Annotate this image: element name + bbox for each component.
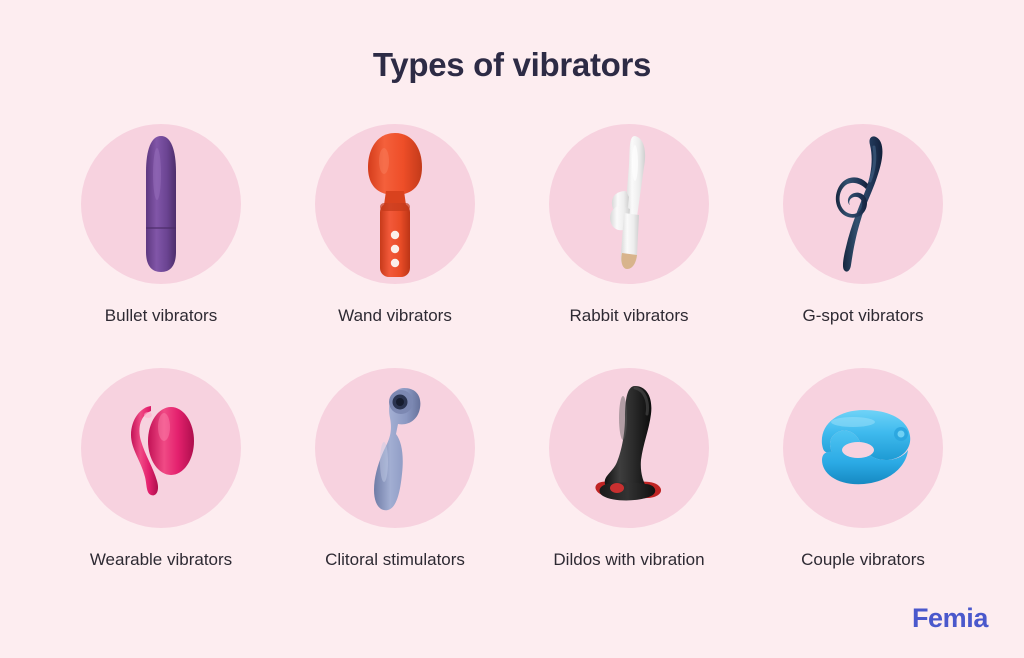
grid-cell-dildos-with-vibration[interactable]: Dildos with vibration [512, 368, 746, 570]
grid-cell-wearable-vibrators[interactable]: Wearable vibrators [44, 368, 278, 570]
icon-circle [81, 368, 241, 528]
wand-vibrator-icon [360, 129, 430, 279]
cell-label: G-spot vibrators [803, 306, 924, 326]
icon-circle [783, 124, 943, 284]
grid-row: Bullet vibrators [0, 124, 1024, 326]
icon-circle [81, 124, 241, 284]
icon-circle [315, 124, 475, 284]
bullet-vibrator-icon [133, 134, 189, 274]
grid-cell-couple-vibrators[interactable]: Couple vibrators [746, 368, 980, 570]
wearable-vibrator-icon [121, 393, 201, 503]
cell-label: Bullet vibrators [105, 306, 217, 326]
rabbit-vibrator-icon [599, 133, 659, 275]
clitoral-stimulator-icon [358, 382, 432, 514]
cell-label: Rabbit vibrators [569, 306, 688, 326]
g-spot-vibrator-icon [826, 133, 900, 275]
cell-label: Wearable vibrators [90, 550, 232, 570]
icon-circle [549, 368, 709, 528]
cell-label: Wand vibrators [338, 306, 452, 326]
cell-label: Couple vibrators [801, 550, 925, 570]
grid-cell-bullet-vibrators[interactable]: Bullet vibrators [44, 124, 278, 326]
grid-cell-clitoral-stimulators[interactable]: Clitoral stimulators [278, 368, 512, 570]
grid-cell-wand-vibrators[interactable]: Wand vibrators [278, 124, 512, 326]
brand-logo[interactable]: Femia [912, 603, 988, 634]
vibrator-types-grid: Bullet vibrators [0, 124, 1024, 571]
icon-circle [783, 368, 943, 528]
icon-circle [549, 124, 709, 284]
grid-cell-g-spot-vibrators[interactable]: G-spot vibrators [746, 124, 980, 326]
dildo-with-vibration-icon [583, 378, 675, 518]
icon-circle [315, 368, 475, 528]
infographic-canvas: Types of vibrators [0, 0, 1024, 658]
grid-row: Wearable vibrators [0, 368, 1024, 570]
cell-label: Dildos with vibration [553, 550, 704, 570]
couple-vibrator-icon [798, 398, 928, 498]
grid-cell-rabbit-vibrators[interactable]: Rabbit vibrators [512, 124, 746, 326]
page-title: Types of vibrators [0, 46, 1024, 84]
cell-label: Clitoral stimulators [325, 550, 465, 570]
